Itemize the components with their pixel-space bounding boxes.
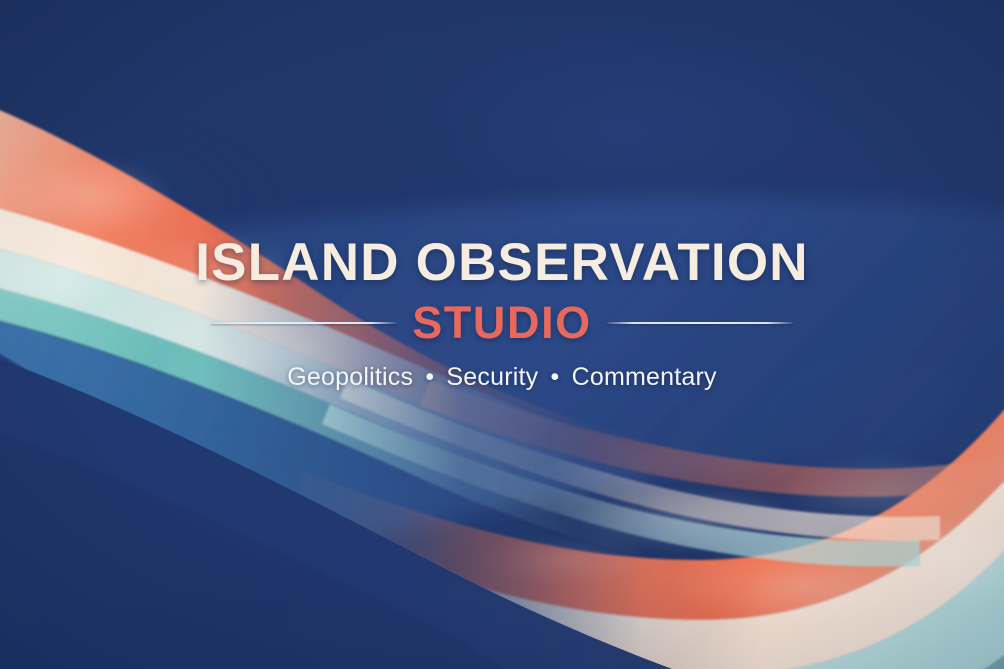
divider-rule-right — [607, 322, 793, 324]
tagline-separator-1: • — [420, 363, 439, 391]
tagline-item-commentary: Commentary — [572, 363, 717, 391]
tagline-item-security: Security — [446, 363, 538, 391]
studio-row: STUDIO — [0, 300, 1004, 345]
tagline-item-geopolitics: Geopolitics — [287, 363, 413, 391]
brand-lockup: ISLAND OBSERVATION STUDIO Geopolitics • … — [0, 236, 1004, 392]
banner-canvas: ISLAND OBSERVATION STUDIO Geopolitics • … — [0, 0, 1004, 669]
studio-wordmark: STUDIO — [412, 300, 592, 345]
tagline-separator-2: • — [546, 363, 565, 391]
tagline: Geopolitics • Security • Commentary — [0, 363, 1004, 392]
page-title: ISLAND OBSERVATION — [0, 236, 1004, 289]
divider-rule-left — [211, 322, 397, 324]
